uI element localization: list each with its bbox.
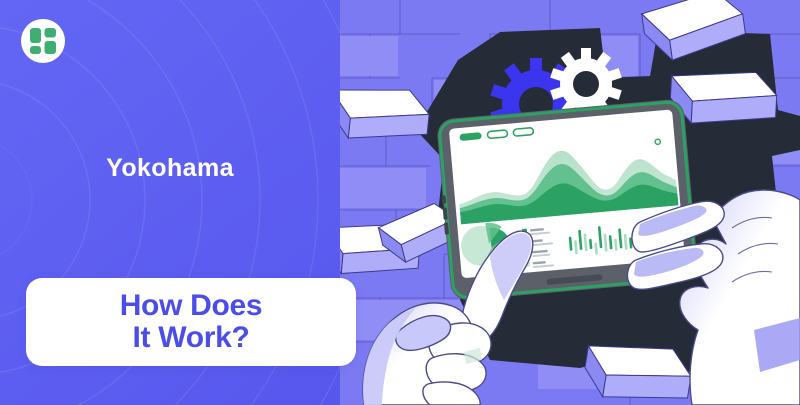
brand-logo[interactable]	[21, 19, 65, 63]
logo-tile-top-right	[45, 28, 57, 38]
four-tile-grid-icon	[30, 28, 56, 54]
headline-line-1: How Does	[120, 289, 263, 322]
logo-tile-top-left	[30, 28, 41, 43]
headline-line-2: It Work?	[132, 321, 249, 354]
promo-banner: Yokohama How Does It Work?	[0, 0, 800, 405]
hero-illustration	[340, 0, 800, 405]
logo-tile-bottom-left	[30, 46, 41, 54]
page-title: How Does It Work?	[120, 290, 263, 354]
logo-tile-bottom-right	[45, 41, 57, 54]
city-subtitle: Yokohama	[0, 155, 340, 183]
headline-card[interactable]: How Does It Work?	[26, 278, 356, 366]
